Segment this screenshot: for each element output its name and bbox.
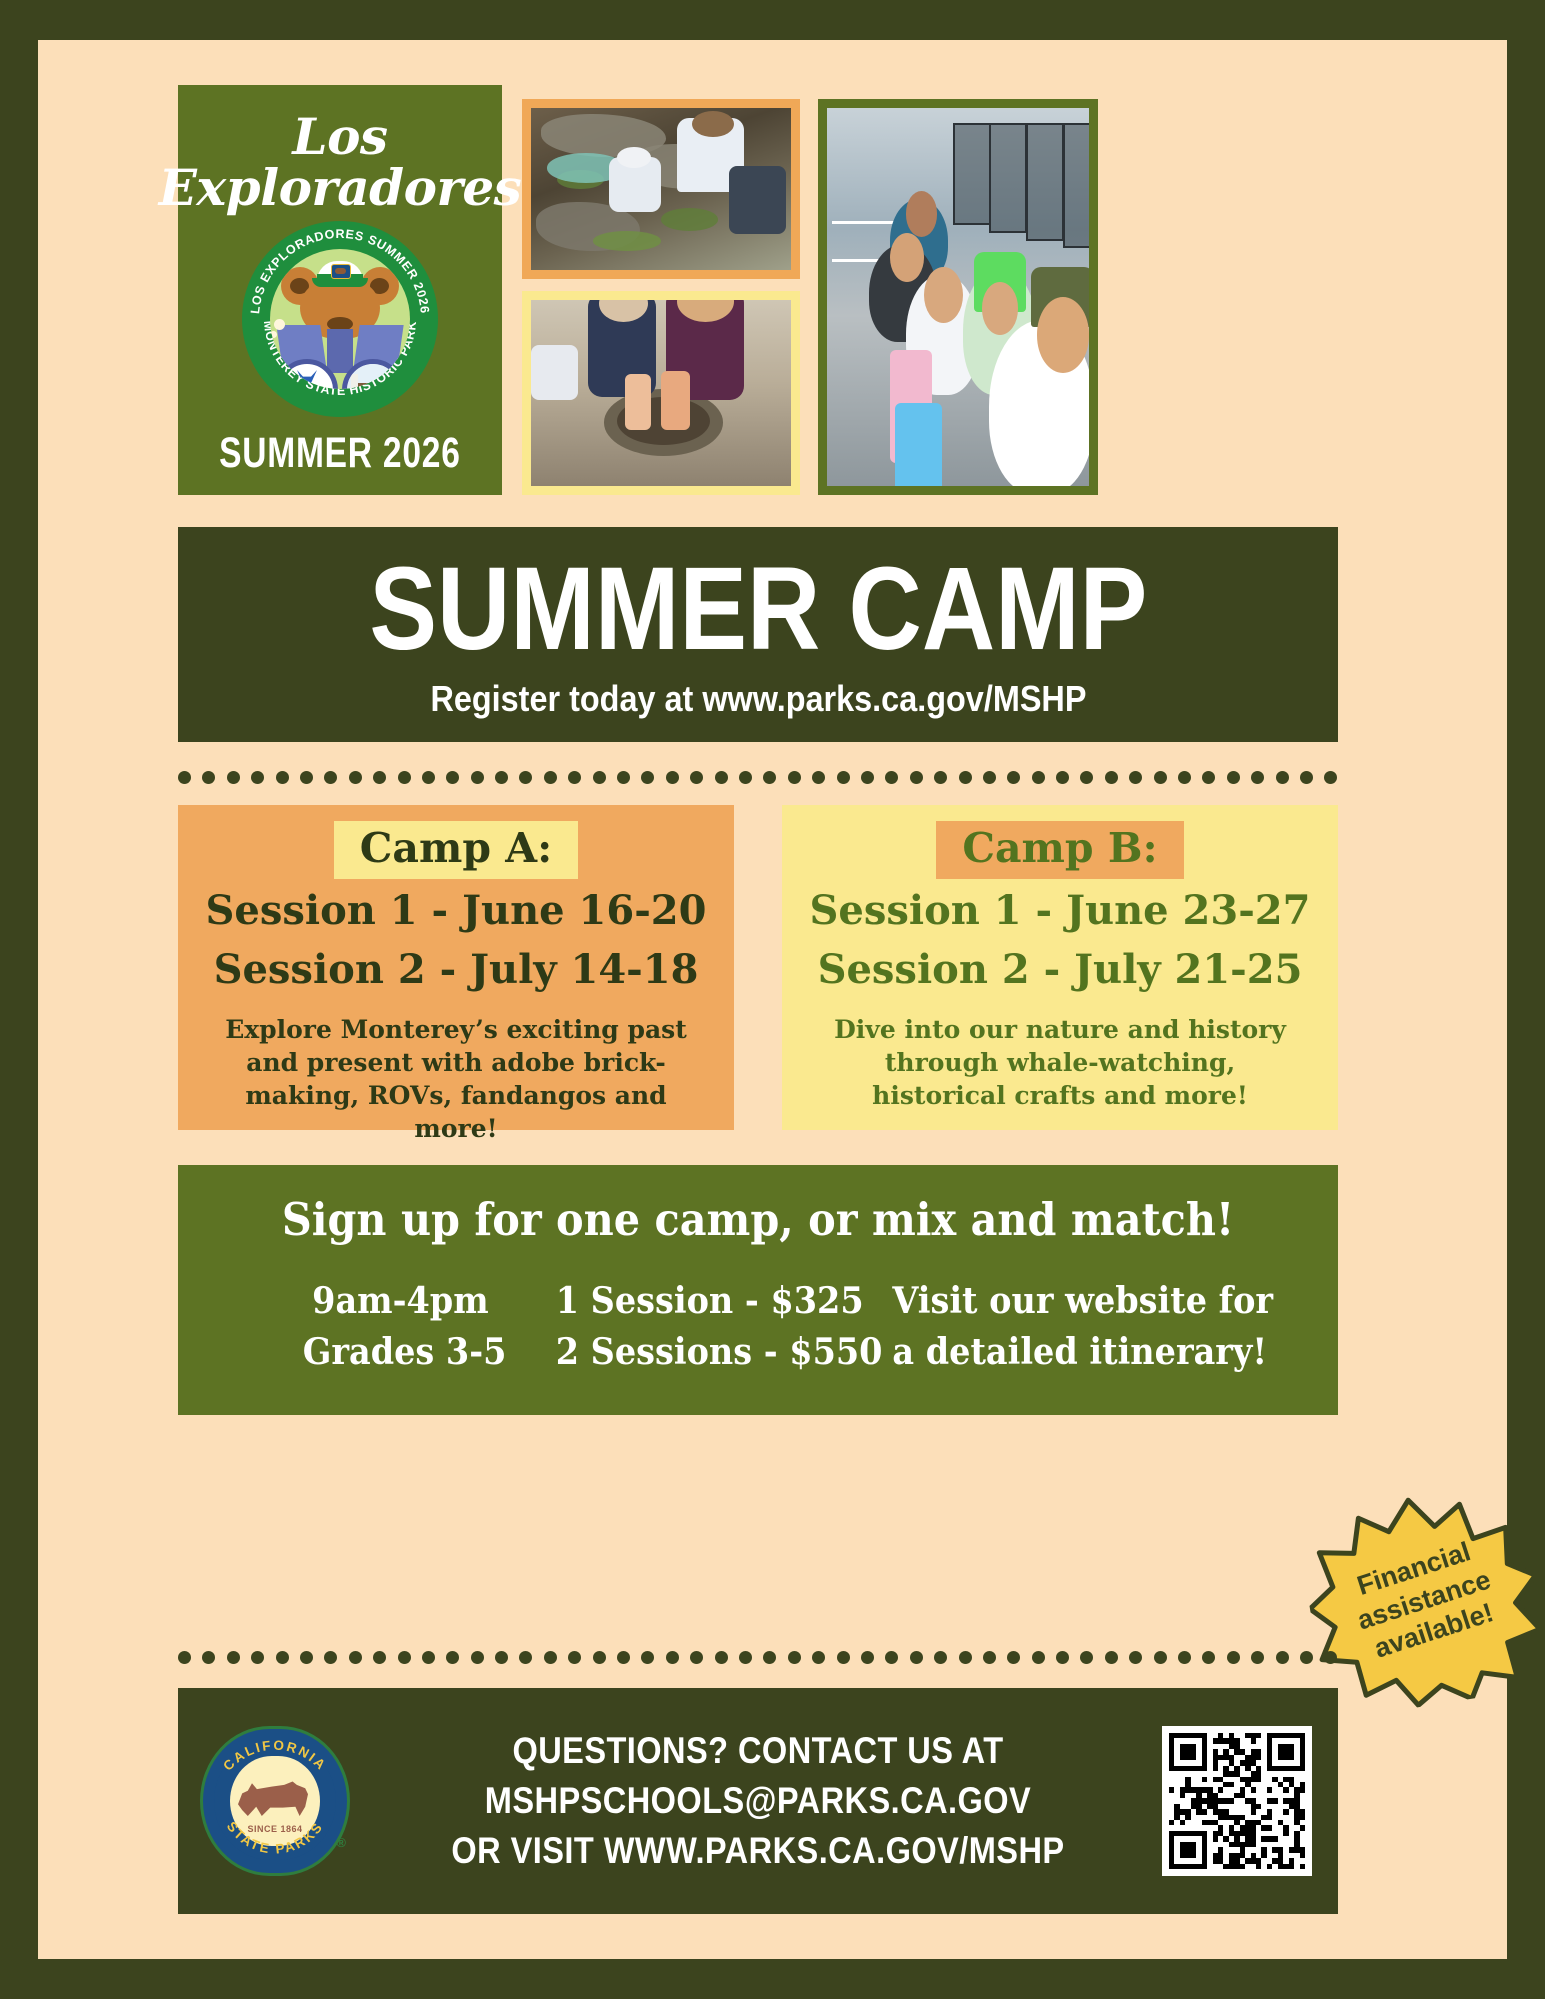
camp-b-session1: Session 1 - June 23-27	[782, 885, 1338, 938]
camp-a-card: Camp A: Session 1 - June 16-20 Session 2…	[178, 805, 734, 1130]
ranger-cap-icon	[312, 261, 368, 291]
photo-tidepool	[522, 99, 800, 279]
camp-a-session1: Session 1 - June 16-20	[178, 885, 734, 938]
signup-details: 9am-4pm Grades 3-5 1 Session - $325 2 Se…	[219, 1276, 1298, 1378]
financial-assistance-burst: Financial assistance available!	[1295, 1478, 1545, 1721]
signup-headline: Sign up for one camp, or mix and match!	[224, 1165, 1291, 1246]
footer-line2[interactable]: MSHPSCHOOLS@PARKS.CA.GOV	[402, 1776, 1113, 1826]
camp-b-session2: Session 2 - July 21-25	[782, 944, 1338, 997]
los-exploradores-badge: LOS EXPLORADORES SUMMER 2026 MONTEREY ST…	[242, 221, 438, 417]
camp-a-tag: Camp A:	[334, 821, 578, 879]
badge-inner-disc	[270, 249, 410, 389]
signup-col-pricing: 1 Session - $325 2 Sessions - $550	[556, 1276, 835, 1378]
register-line[interactable]: Register today at www.parks.ca.gov/MSHP	[430, 678, 1086, 720]
adobe-lens-icon	[342, 359, 404, 389]
divider-dots-bottom	[178, 1650, 1338, 1664]
divider-dots-top	[178, 770, 1338, 784]
signup-grades: Grades 3-5	[303, 1327, 498, 1378]
script-title: Los Exploradores	[159, 111, 522, 213]
camp-cards: Camp A: Session 1 - June 16-20 Session 2…	[178, 805, 1338, 1130]
page-title: SUMMER CAMP	[369, 550, 1147, 668]
photo-adobe-bricks	[522, 291, 800, 495]
qr-code[interactable]	[1162, 1726, 1312, 1876]
signup-price-one: 1 Session - $325	[556, 1276, 835, 1327]
california-state-parks-logo: SINCE 1864 CALIFORNIA STATE PARKS ®	[200, 1726, 350, 1876]
footer-line3[interactable]: OR VISIT WWW.PARKS.CA.GOV/MSHP	[402, 1826, 1113, 1876]
signup-col-itinerary: Visit our website for a detailed itinera…	[892, 1276, 1213, 1378]
logo-panel: Los Exploradores LOS EXPLORADORES SUMMER…	[178, 85, 502, 495]
svg-text:CALIFORNIA: CALIFORNIA	[220, 1738, 329, 1774]
summer-camp-banner: SUMMER CAMP Register today at www.parks.…	[178, 527, 1338, 742]
signup-price-two: 2 Sessions - $550	[556, 1327, 835, 1378]
header-row: Los Exploradores LOS EXPLORADORES SUMMER…	[178, 85, 1338, 495]
camp-b-description: Dive into our nature and history through…	[821, 1013, 1299, 1112]
logo-arc-text: CALIFORNIA STATE PARKS	[200, 1726, 350, 1876]
camp-b-card: Camp B: Session 1 - June 23-27 Session 2…	[782, 805, 1338, 1130]
signup-time: 9am-4pm	[303, 1276, 498, 1327]
script-title-line2: Exploradores	[159, 162, 522, 213]
signup-itinerary-line1: Visit our website for	[892, 1276, 1213, 1327]
camp-a-description: Explore Monterey’s exciting past and pre…	[217, 1013, 695, 1145]
footer-contact: QUESTIONS? CONTACT US AT MSHPSCHOOLS@PAR…	[402, 1726, 1113, 1876]
flyer-inner: Los Exploradores LOS EXPLORADORES SUMMER…	[38, 40, 1507, 1959]
signup-itinerary-line2: a detailed itinerary!	[892, 1327, 1213, 1378]
svg-text:STATE PARKS: STATE PARKS	[224, 1819, 327, 1857]
camp-b-tag: Camp B:	[936, 821, 1183, 879]
camp-a-session2: Session 2 - July 14-18	[178, 944, 734, 997]
footer-line1: QUESTIONS? CONTACT US AT	[402, 1726, 1113, 1776]
footer-band: SINCE 1864 CALIFORNIA STATE PARKS ® QUES…	[178, 1688, 1338, 1914]
signup-col-schedule: 9am-4pm Grades 3-5	[303, 1276, 498, 1378]
signup-band: Sign up for one camp, or mix and match! …	[178, 1165, 1338, 1415]
photo-whale-watching-boat	[818, 99, 1098, 495]
season-label: SUMMER 2026	[219, 429, 461, 478]
flyer-page: Los Exploradores LOS EXPLORADORES SUMMER…	[0, 0, 1545, 1999]
registered-mark: ®	[336, 1835, 346, 1850]
binoculars-icon	[278, 325, 402, 389]
